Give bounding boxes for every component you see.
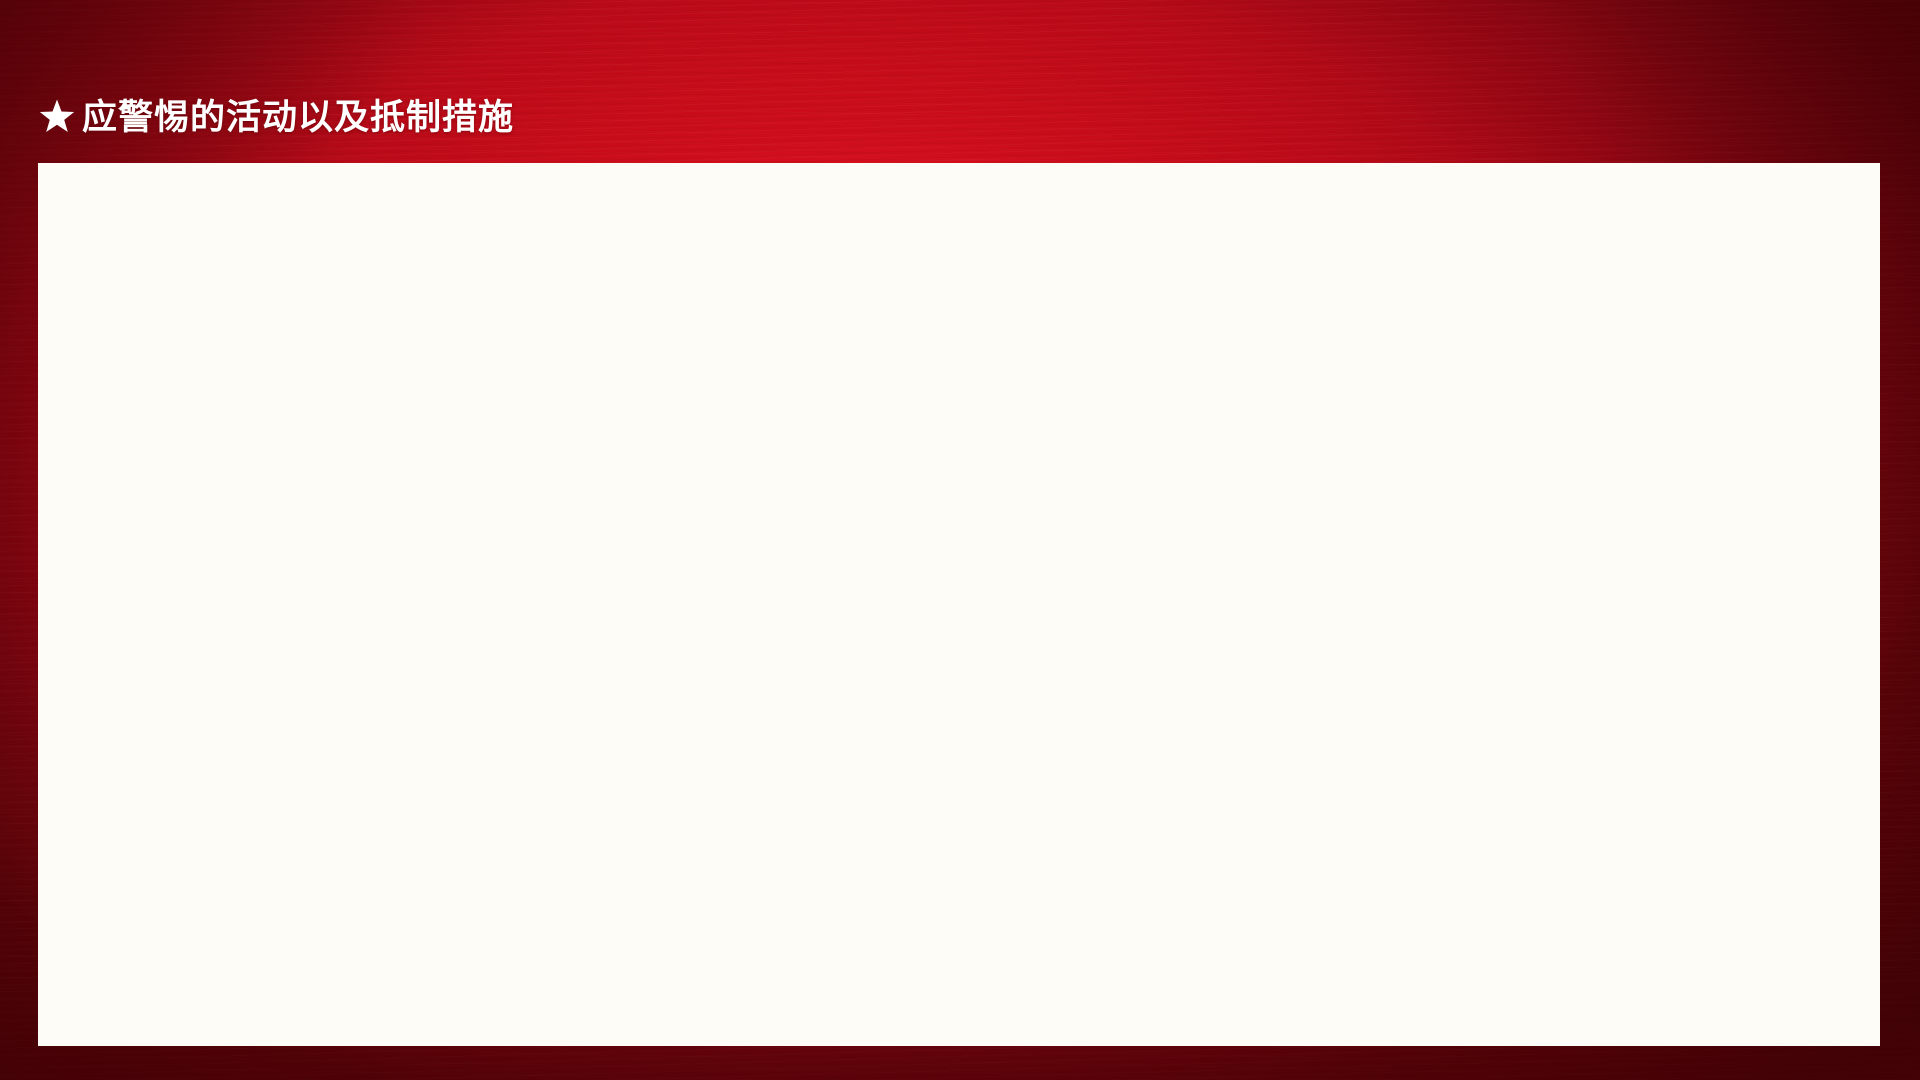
page-title: 应警惕的活动以及抵制措施 [82,100,514,135]
content-card [38,163,1880,1046]
star-icon [38,98,76,136]
slide-header: 应警惕的活动以及抵制措施 [38,98,514,136]
slide: 应警惕的活动以及抵制措施 抵制措施 措施一 拾获属于国家秘密的文件、资料和其他物… [0,0,1920,1080]
